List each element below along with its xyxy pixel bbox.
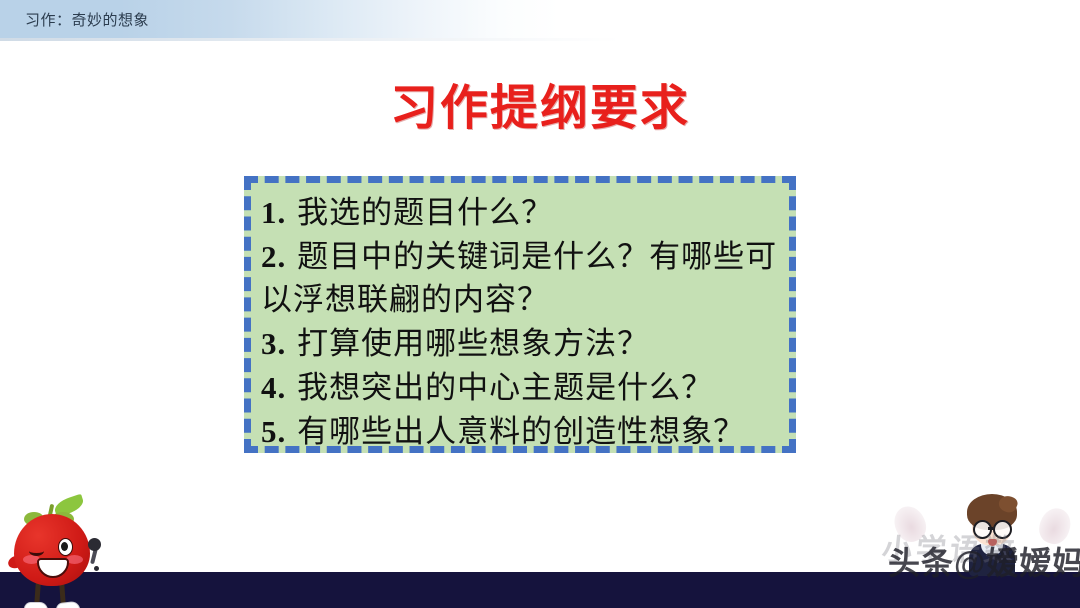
requirement-text: 有哪些出人意料的创造性想象？: [297, 414, 745, 450]
apple-eye-wink: [29, 546, 44, 556]
requirement-line-3: 3. 打算使用哪些想象方法？: [261, 322, 779, 366]
requirement-text: 打算使用哪些想象方法？: [297, 326, 649, 362]
apple-shoe-left: [24, 602, 48, 608]
requirement-line-2: 2. 题目中的关键词是什么？有哪些可以浮想联翩的内容？: [261, 235, 779, 322]
requirement-line-1: 1. 我选的题目什么？: [261, 191, 779, 235]
apple-mascot-icon: [8, 492, 118, 608]
slide-canvas: 习作：奇妙的想象 习作提纲要求 1. 我选的题目什么？ 2. 题目中的关键词是什…: [0, 0, 1080, 608]
requirement-text: 题目中的关键词是什么？有哪些可以浮想联翩的内容？: [261, 239, 777, 318]
microphone-icon: [88, 538, 101, 551]
requirement-number: 3.: [261, 326, 286, 361]
page-title: 习作提纲要求: [0, 79, 1080, 137]
watermark-account: 嫒嫒妈: [986, 544, 1080, 582]
microphone-dot: [94, 566, 99, 571]
requirement-text: 我选的题目什么？: [297, 195, 553, 231]
requirement-line-5: 5. 有哪些出人意料的创造性想象？: [261, 410, 779, 454]
glasses-bridge: [988, 527, 993, 530]
watermark: 头条@嫒嫒妈: [888, 544, 1080, 582]
watermark-at-symbol: @: [954, 545, 986, 581]
breadcrumb: 习作：奇妙的想象: [25, 11, 149, 29]
requirement-number: 5.: [261, 414, 286, 449]
requirement-line-4: 4. 我想突出的中心主题是什么？: [261, 366, 779, 410]
apple-shoe-right: [55, 601, 80, 608]
apple-pupil: [61, 542, 68, 551]
requirement-text: 我想突出的中心主题是什么？: [297, 370, 713, 406]
requirement-number: 1.: [261, 195, 286, 230]
waving-hand-right-icon: [1035, 504, 1076, 548]
watermark-brand: 头条: [888, 544, 954, 582]
header-band-shadow: [0, 38, 620, 41]
header-band: [0, 0, 1080, 38]
requirement-number: 2.: [261, 239, 286, 274]
requirements-box: 1. 我选的题目什么？ 2. 题目中的关键词是什么？有哪些可以浮想联翩的内容？ …: [244, 176, 796, 453]
requirement-number: 4.: [261, 370, 286, 405]
